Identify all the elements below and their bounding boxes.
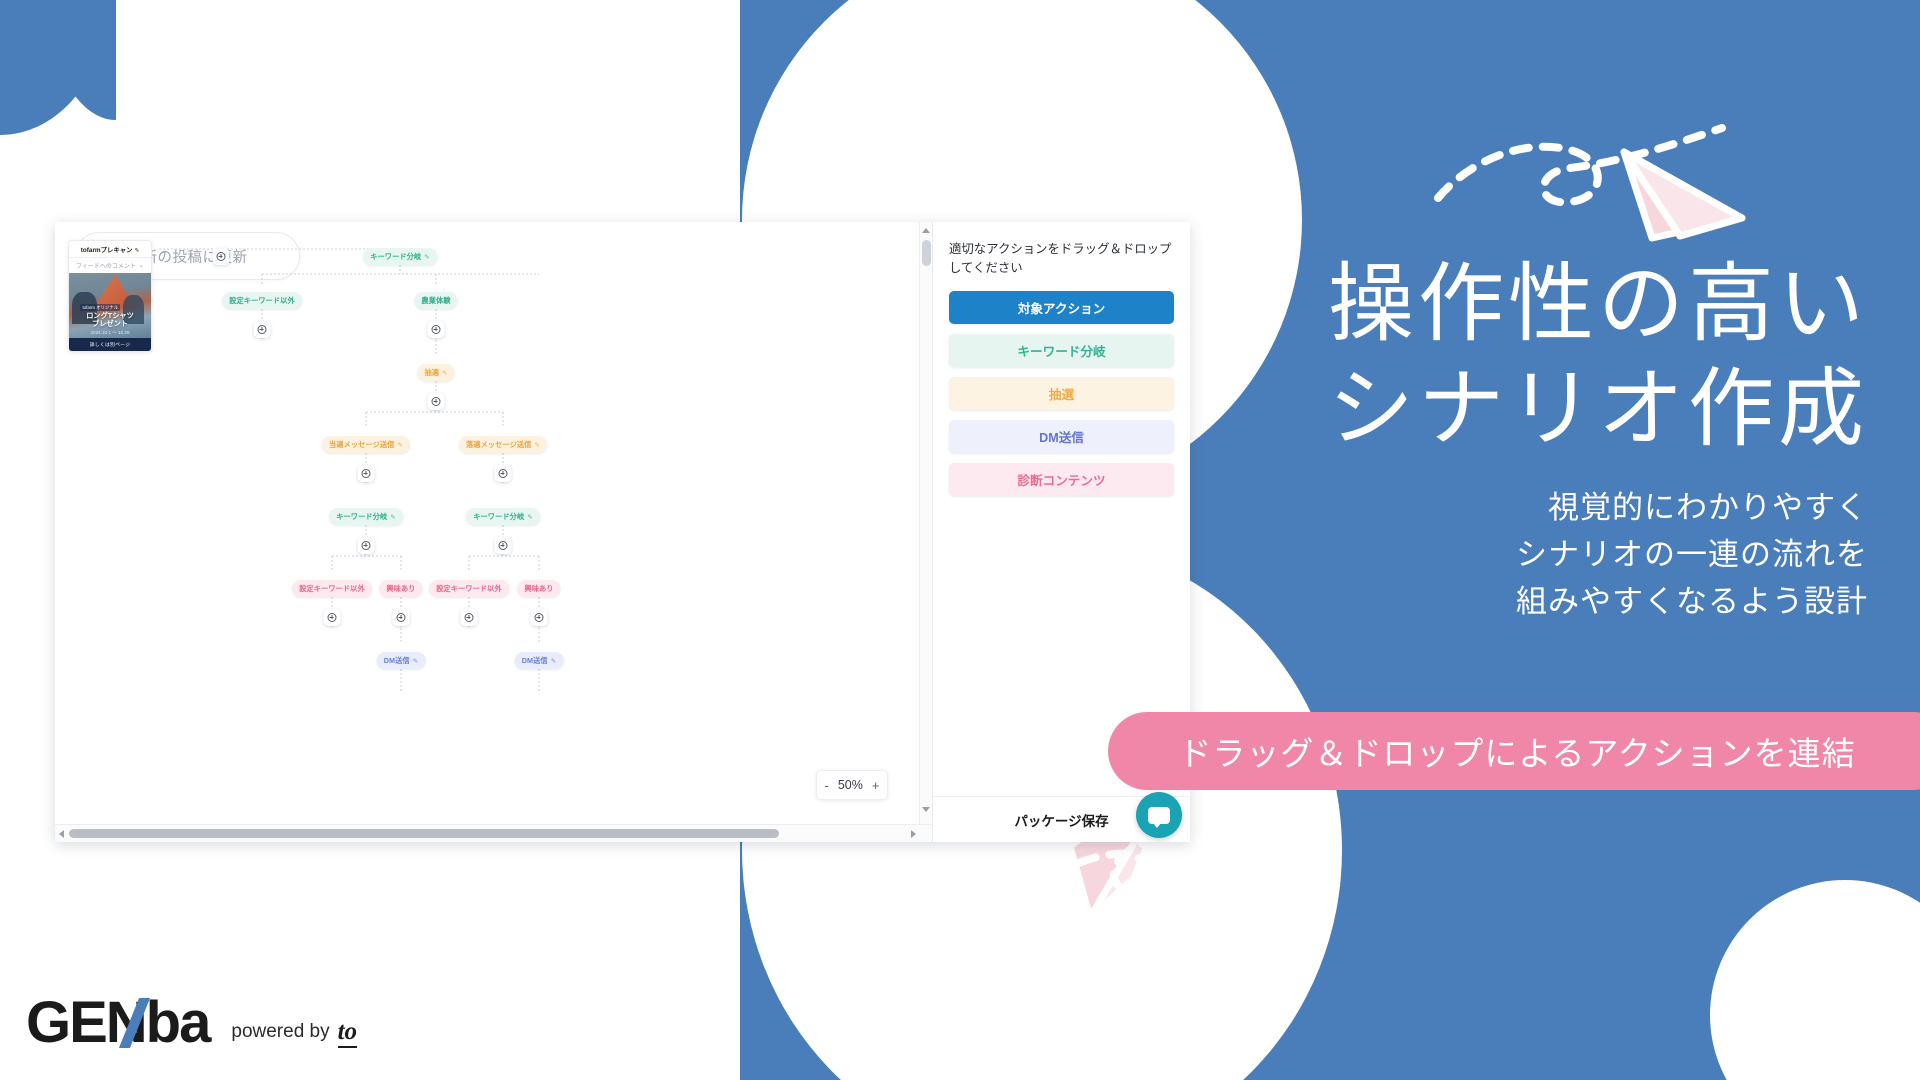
add-node-button-8[interactable] <box>495 537 512 554</box>
palette-item-label: 診断コンテンツ <box>1017 470 1105 489</box>
zoom-in-button[interactable]: + <box>872 778 880 793</box>
hero-subtext: 視覚的にわかりやすく シナリオの一連の流れを 組みやすくなるよう設計 <box>1108 484 1868 625</box>
flow-node-label: DM送信 <box>522 656 548 666</box>
flow-node-n14[interactable]: DM送信✎ <box>515 652 564 669</box>
flow-node-n9[interactable]: 設定キーワード以外 <box>292 580 372 597</box>
plus-circle-icon <box>328 613 337 622</box>
edit-pencil-icon[interactable]: ✎ <box>390 513 396 521</box>
subtext-line-2: シナリオの一連の流れを <box>1516 537 1868 572</box>
flow-node-label: キーワード分岐 <box>370 252 421 262</box>
chat-bubble-icon <box>1148 807 1170 824</box>
flow-node-label: キーワード分岐 <box>336 512 387 522</box>
edit-pencil-icon[interactable]: ✎ <box>397 441 403 449</box>
flow-node-n8[interactable]: キーワード分岐✎ <box>466 508 540 525</box>
hero-copy: 操作性の高い シナリオ作成 視覚的にわかりやすく シナリオの一連の流れを 組みや… <box>1108 252 1868 625</box>
flow-node-n6[interactable]: 落選メッセージ送信✎ <box>459 436 547 453</box>
plus-circle-icon <box>397 613 406 622</box>
plus-circle-icon <box>432 397 441 406</box>
save-package-label: パッケージ保存 <box>1014 810 1108 830</box>
flow-edges <box>55 222 933 742</box>
scroll-left-arrow-icon[interactable] <box>59 830 64 838</box>
app-screenshot-window: 最新の投稿に更新 tofarmプレキャン✎ フィードへのコメント⌄ tofarm… <box>55 222 1190 842</box>
headline-line-2: シナリオ作成 <box>1328 361 1868 457</box>
vertical-scroll-thumb[interactable] <box>922 240 931 266</box>
horizontal-scrollbar[interactable] <box>55 824 932 842</box>
add-node-button-5[interactable] <box>358 465 375 482</box>
plus-circle-icon <box>499 541 508 550</box>
flow-node-n11[interactable]: 設定キーワード以外 <box>429 580 509 597</box>
edit-pencil-icon[interactable]: ✎ <box>551 657 557 665</box>
flow-node-label: 抽選 <box>424 368 439 378</box>
flow-node-label: DM送信 <box>384 656 410 666</box>
flow-node-label: 農業体験 <box>421 296 450 306</box>
scroll-right-arrow-icon[interactable] <box>911 830 916 838</box>
add-node-button-10[interactable] <box>393 609 410 626</box>
zoom-control[interactable]: - 50% + <box>816 770 888 800</box>
powered-by-label: powered by <box>231 1021 329 1043</box>
add-node-button-9[interactable] <box>324 609 341 626</box>
flow-node-label: 落選メッセージ送信 <box>466 440 531 450</box>
dashed-trail-top <box>1430 120 1730 230</box>
flow-node-label: 興味あり <box>524 584 553 594</box>
flow-node-n2[interactable]: 設定キーワード以外 <box>222 292 302 309</box>
palette-item-label: 抽選 <box>1049 384 1074 403</box>
edit-pencil-icon[interactable]: ✎ <box>534 441 540 449</box>
genba-logo: GENba <box>26 994 209 1052</box>
add-node-button-12[interactable] <box>531 609 548 626</box>
palette-item-label: キーワード分岐 <box>1017 341 1105 360</box>
palette-item-label: 対象アクション <box>1018 298 1106 317</box>
edit-pencil-icon[interactable]: ✎ <box>413 657 419 665</box>
flow-node-n7[interactable]: キーワード分岐✎ <box>329 508 403 525</box>
plus-circle-icon <box>217 252 226 261</box>
edit-pencil-icon[interactable]: ✎ <box>424 253 430 261</box>
flow-node-label: キーワード分岐 <box>473 512 524 522</box>
vertical-scrollbar[interactable] <box>919 222 932 842</box>
subtext-line-3: 組みやすくなるよう設計 <box>1516 584 1868 619</box>
chat-support-button[interactable] <box>1136 792 1182 838</box>
plus-circle-icon <box>499 469 508 478</box>
powered-by-block: powered by to <box>231 1021 357 1053</box>
palette-item-label: DM送信 <box>1039 427 1084 446</box>
plus-circle-icon <box>362 469 371 478</box>
flow-node-label: 興味あり <box>386 584 415 594</box>
hero-pink-banner: ドラッグ＆ドロップによるアクションを連結 <box>1108 712 1920 790</box>
add-node-button-1[interactable] <box>213 248 230 265</box>
plus-circle-icon <box>465 613 474 622</box>
edit-pencil-icon[interactable]: ✎ <box>527 513 533 521</box>
headline-line-1: 操作性の高い <box>1328 256 1868 352</box>
flow-node-n13[interactable]: DM送信✎ <box>377 652 426 669</box>
scroll-down-arrow-icon[interactable] <box>922 807 930 812</box>
subtext-line-1: 視覚的にわかりやすく <box>1548 490 1868 525</box>
flow-node-n12[interactable]: 興味あり <box>517 580 560 597</box>
flow-node-label: 設定キーワード以外 <box>229 296 295 306</box>
add-node-button-11[interactable] <box>461 609 478 626</box>
flow-node-label: 設定キーワード以外 <box>299 584 365 594</box>
plus-circle-icon <box>362 541 371 550</box>
flow-node-label: 設定キーワード以外 <box>436 584 502 594</box>
flow-node-label: 当選メッセージ送信 <box>329 440 394 450</box>
flow-graph: キーワード分岐✎設定キーワード以外農業体験抽選✎当選メッセージ送信✎落選メッセー… <box>55 222 933 782</box>
flow-node-n5[interactable]: 当選メッセージ送信✎ <box>322 436 410 453</box>
flow-node-n4[interactable]: 抽選✎ <box>417 364 454 381</box>
add-node-button-7[interactable] <box>358 537 375 554</box>
plus-circle-icon <box>432 325 441 334</box>
zoom-out-button[interactable]: - <box>825 778 829 793</box>
footer-branding: GENba powered by to <box>26 994 357 1052</box>
genba-logo-text: GENba <box>26 990 209 1055</box>
add-node-button-4[interactable] <box>428 393 445 410</box>
scroll-up-arrow-icon[interactable] <box>922 228 930 233</box>
edit-pencil-icon[interactable]: ✎ <box>442 369 448 377</box>
horizontal-scroll-thumb[interactable] <box>69 829 779 838</box>
zoom-level-label: 50% <box>838 778 863 792</box>
flow-node-n1[interactable]: キーワード分岐✎ <box>363 248 437 265</box>
slide-canvas: 最新の投稿に更新 tofarmプレキャン✎ フィードへのコメント⌄ tofarm… <box>0 0 1920 1080</box>
to-logo-mark: to <box>338 1021 357 1044</box>
add-node-button-3[interactable] <box>428 321 445 338</box>
hero-headline: 操作性の高い シナリオ作成 <box>1108 252 1868 462</box>
flow-node-n3[interactable]: 農業体験 <box>414 292 457 309</box>
plus-circle-icon <box>535 613 544 622</box>
add-node-button-2[interactable] <box>254 321 271 338</box>
flow-node-n10[interactable]: 興味あり <box>379 580 422 597</box>
scenario-canvas[interactable]: 最新の投稿に更新 tofarmプレキャン✎ フィードへのコメント⌄ tofarm… <box>55 222 933 842</box>
pink-banner-label: ドラッグ＆ドロップによるアクションを連結 <box>1178 727 1855 775</box>
plus-circle-icon <box>258 325 267 334</box>
add-node-button-6[interactable] <box>495 465 512 482</box>
